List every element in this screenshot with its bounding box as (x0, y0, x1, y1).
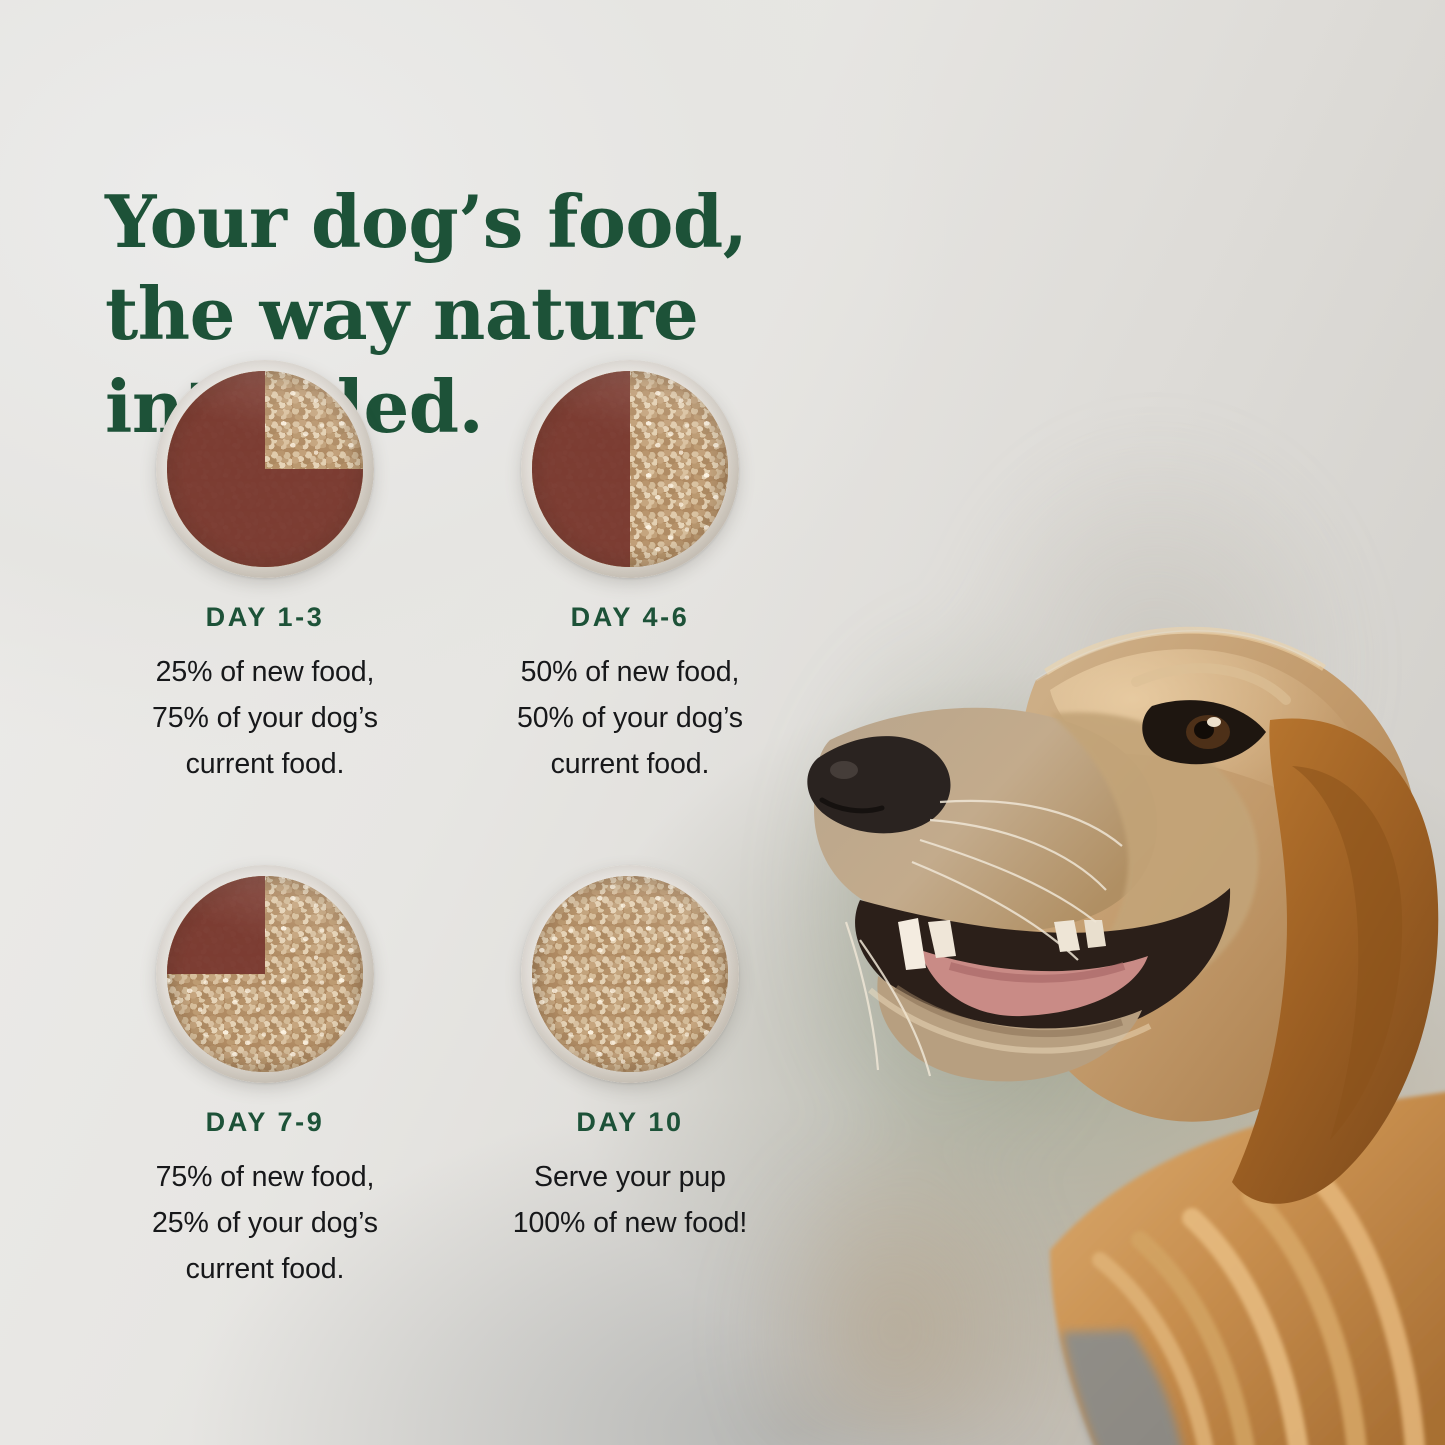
headline-line-1: Your dog’s food, (105, 179, 747, 264)
day-label: DAY 10 (450, 1107, 810, 1138)
transition-step-day-4-6: DAY 4-6 50% of new food, 50% of your dog… (450, 360, 810, 787)
step-description: 75% of new food, 25% of your dog’s curre… (85, 1154, 445, 1292)
desc-line: current food. (85, 741, 445, 787)
dog-bowl-icon (156, 865, 374, 1083)
desc-line: 100% of new food! (450, 1200, 810, 1246)
golden-retriever-dog-photo (800, 470, 1445, 1445)
step-description: 25% of new food, 75% of your dog’s curre… (85, 649, 445, 787)
desc-line: 25% of new food, (85, 649, 445, 695)
dog-bowl-icon (156, 360, 374, 578)
transition-step-day-1-3: DAY 1-3 25% of new food, 75% of your dog… (85, 360, 445, 787)
desc-line: current food. (85, 1246, 445, 1292)
step-description: Serve your pup 100% of new food! (450, 1154, 810, 1246)
transition-step-day-7-9: DAY 7-9 75% of new food, 25% of your dog… (85, 865, 445, 1292)
desc-line: 25% of your dog’s (85, 1200, 445, 1246)
day-label: DAY 4-6 (450, 602, 810, 633)
day-label: DAY 7-9 (85, 1107, 445, 1138)
desc-line: Serve your pup (450, 1154, 810, 1200)
desc-line: 50% of new food, (450, 649, 810, 695)
desc-line: 75% of new food, (85, 1154, 445, 1200)
transition-step-day-10: DAY 10 Serve your pup 100% of new food! (450, 865, 810, 1246)
dog-bowl-icon (521, 865, 739, 1083)
promo-graphic: Your dog’s food, the way nature intended… (0, 0, 1445, 1445)
day-label: DAY 1-3 (85, 602, 445, 633)
step-description: 50% of new food, 50% of your dog’s curre… (450, 649, 810, 787)
desc-line: 75% of your dog’s (85, 695, 445, 741)
desc-line: current food. (450, 741, 810, 787)
desc-line: 50% of your dog’s (450, 695, 810, 741)
dog-bowl-icon (521, 360, 739, 578)
